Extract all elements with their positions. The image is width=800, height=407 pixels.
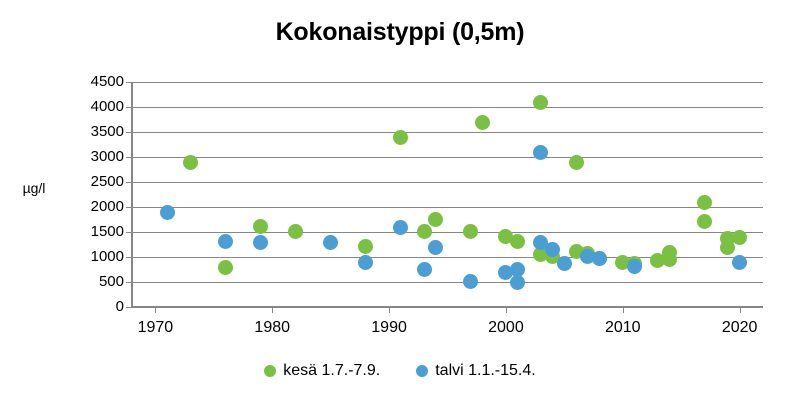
gridline-horizontal <box>132 207 763 208</box>
data-point <box>393 130 408 145</box>
gridline-horizontal <box>132 182 763 183</box>
x-axis-tick <box>623 307 624 313</box>
data-point <box>510 275 525 290</box>
y-axis-tick-label: 1500 <box>64 224 124 239</box>
data-point <box>183 155 198 170</box>
y-axis-tick <box>126 182 132 183</box>
y-axis-tick-label: 3000 <box>64 149 124 164</box>
data-point <box>732 230 747 245</box>
gridline-horizontal <box>132 132 763 133</box>
chart-legend: kesä 1.7.-7.9.talvi 1.1.-15.4. <box>0 362 800 380</box>
data-point <box>323 235 338 250</box>
y-axis-title: µg/l <box>8 180 60 196</box>
y-axis-tick-label: 1000 <box>64 249 124 264</box>
data-point <box>253 235 268 250</box>
data-point <box>417 262 432 277</box>
y-axis-tick <box>126 107 132 108</box>
x-axis-tick-label: 1980 <box>237 319 307 337</box>
data-point <box>697 214 712 229</box>
data-point <box>569 155 584 170</box>
y-axis-tick-label: 500 <box>64 274 124 289</box>
y-axis-tick-label: 4500 <box>64 74 124 89</box>
y-axis-tick <box>126 232 132 233</box>
data-point <box>288 224 303 239</box>
y-axis-tick-label: 2000 <box>64 199 124 214</box>
data-point <box>557 256 572 271</box>
gridline-horizontal <box>132 232 763 233</box>
y-axis-tick <box>126 257 132 258</box>
legend-item-label: kesä 1.7.-7.9. <box>283 362 380 380</box>
x-axis-tick <box>740 307 741 313</box>
data-point <box>533 145 548 160</box>
data-point <box>463 224 478 239</box>
y-axis-tick <box>126 207 132 208</box>
gridline-horizontal <box>132 82 763 83</box>
gridline-horizontal <box>132 307 763 308</box>
y-axis-tick <box>126 307 132 308</box>
data-point <box>218 260 233 275</box>
data-point <box>533 95 548 110</box>
data-point <box>592 251 607 266</box>
data-point <box>417 224 432 239</box>
x-axis-tick <box>272 307 273 313</box>
legend-item-talvi[interactable]: talvi 1.1.-15.4. <box>416 362 536 380</box>
data-point <box>732 255 747 270</box>
legend-item-label: talvi 1.1.-15.4. <box>435 362 536 380</box>
data-point <box>358 255 373 270</box>
x-axis-tick-label: 1970 <box>120 319 190 337</box>
x-axis-tick-label: 2000 <box>471 319 541 337</box>
data-point <box>510 234 525 249</box>
y-axis-tick <box>126 82 132 83</box>
legend-item-kesa[interactable]: kesä 1.7.-7.9. <box>264 362 380 380</box>
data-point <box>160 205 175 220</box>
x-axis-tick <box>389 307 390 313</box>
legend-dot-icon <box>416 365 428 377</box>
data-point <box>218 234 233 249</box>
data-point <box>475 115 490 130</box>
data-point <box>545 242 560 257</box>
data-point <box>463 274 478 289</box>
y-axis-tick-label: 2500 <box>64 174 124 189</box>
x-axis-tick <box>506 307 507 313</box>
x-axis-tick-label: 2010 <box>588 319 658 337</box>
gridline-horizontal <box>132 107 763 108</box>
chart-title: Kokonaistyppi (0,5m) <box>0 18 800 47</box>
data-point <box>428 212 443 227</box>
x-axis-tick-label: 1990 <box>354 319 424 337</box>
chart-container: Kokonaistyppi (0,5m) µg/l 05001000150020… <box>0 0 800 407</box>
gridline-horizontal <box>132 282 763 283</box>
legend-dot-icon <box>264 365 276 377</box>
gridline-horizontal <box>132 157 763 158</box>
y-axis-tick <box>126 157 132 158</box>
data-point <box>697 195 712 210</box>
y-axis-tick-label: 3500 <box>64 124 124 139</box>
data-point <box>393 220 408 235</box>
x-axis-tick <box>155 307 156 313</box>
y-axis-tick-label: 4000 <box>64 99 124 114</box>
data-point <box>428 240 443 255</box>
y-axis-tick <box>126 132 132 133</box>
data-point <box>627 259 642 274</box>
plot-area <box>132 82 763 307</box>
y-axis-tick-label: 0 <box>64 299 124 314</box>
y-axis-tick <box>126 282 132 283</box>
data-point <box>358 239 373 254</box>
data-point <box>662 252 677 267</box>
x-axis-tick-label: 2020 <box>705 319 775 337</box>
data-point <box>253 219 268 234</box>
